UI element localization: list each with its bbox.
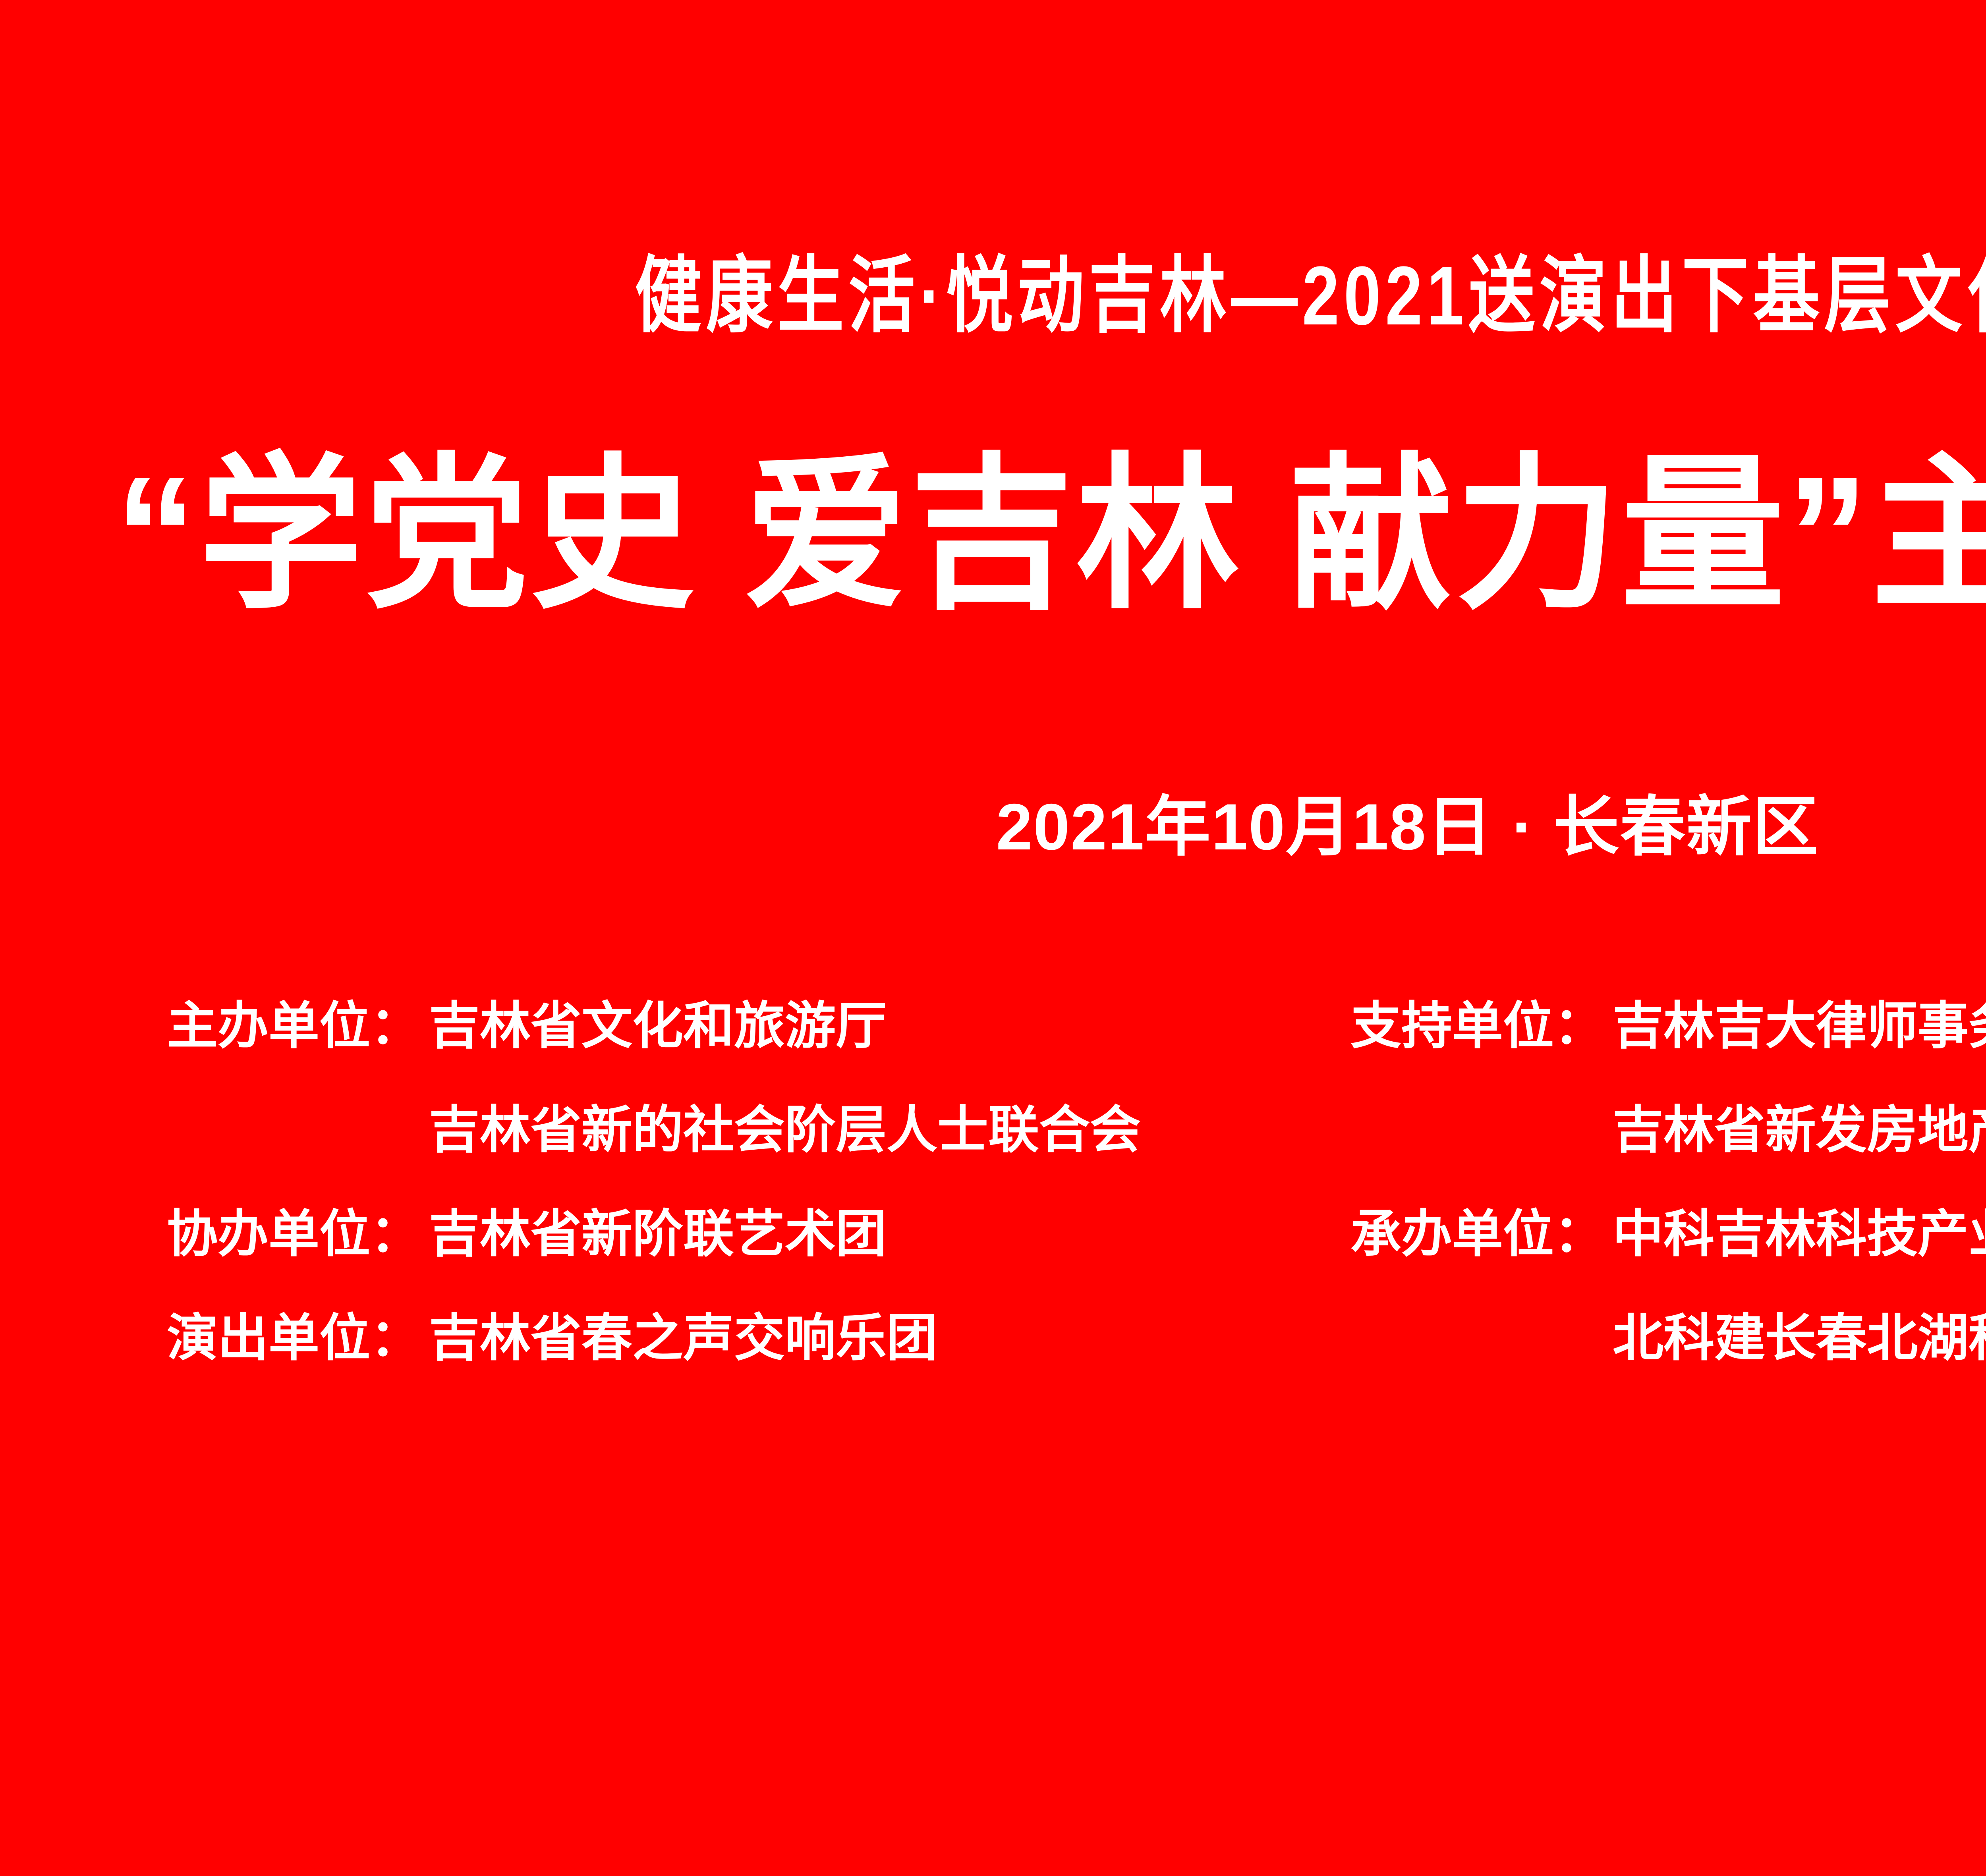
event-subtitle: 健康生活·悦动吉林—2021送演出下基层文化惠民 <box>282 254 1986 338</box>
credit-row: 吉林省新发房地产经纪（集团）有限公司 <box>1350 1105 1986 1209</box>
credit-value: 吉林省新阶联艺术团 <box>429 1209 887 1260</box>
credit-row: 支持单位： 吉林吉大律师事务所 <box>1350 1001 1986 1105</box>
credit-label: 协办单位： <box>167 1209 429 1260</box>
credit-row: 北科建长春北湖科技园 <box>1350 1313 1986 1417</box>
poster-canvas: 健康生活·悦动吉林—2021送演出下基层文化惠民 “学党史 爱吉林 献力量”主题… <box>0 0 1986 1876</box>
credit-row: 演出单位： 吉林省春之声交响乐团 <box>167 1313 1350 1417</box>
page-title: “学党史 爱吉林 献力量”主题音乐会 <box>28 437 1986 634</box>
credit-row: 承办单位： 中科吉林科技产业创新平台 <box>1350 1209 1986 1313</box>
event-date-location: 2021年10月18日 · 长春新区 <box>0 794 1986 860</box>
credit-value: 吉林省文化和旅游厅 <box>429 1001 887 1052</box>
credit-value: 中科吉林科技产业创新平台 <box>1613 1209 1986 1260</box>
credit-row: 协办单位： 吉林省新阶联艺术团 <box>167 1209 1350 1313</box>
credit-value: 吉林省春之声交响乐团 <box>429 1313 937 1364</box>
credit-row: 主办单位： 吉林省文化和旅游厅 <box>167 1001 1350 1105</box>
credit-value: 吉林吉大律师事务所 <box>1613 1001 1986 1052</box>
credit-value: 吉林省新发房地产经纪（集团）有限公司 <box>1613 1105 1986 1156</box>
credit-label: 支持单位： <box>1350 1001 1613 1052</box>
credit-label: 主办单位： <box>167 1001 429 1052</box>
credit-row: 吉林省新的社会阶层人士联合会 <box>167 1105 1350 1209</box>
credits-block: 主办单位： 吉林省文化和旅游厅 支持单位： 吉林吉大律师事务所 吉林省新的社会阶… <box>167 1001 1986 1417</box>
credit-label: 演出单位： <box>167 1313 429 1364</box>
credit-label: 承办单位： <box>1350 1209 1613 1260</box>
credit-value: 北科建长春北湖科技园 <box>1613 1313 1986 1364</box>
credit-value: 吉林省新的社会阶层人士联合会 <box>429 1105 1141 1156</box>
